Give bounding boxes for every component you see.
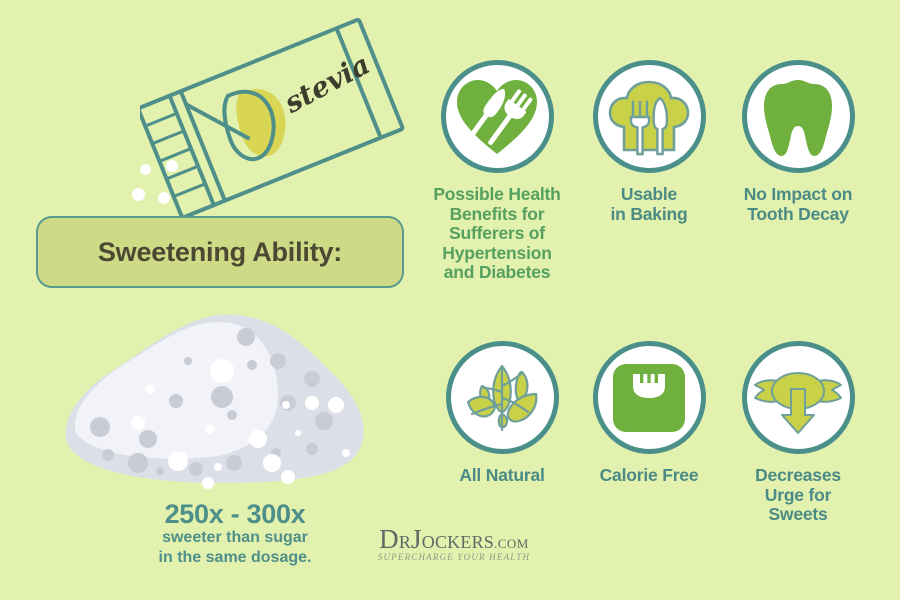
sweetening-ability-banner: Sweetening Ability: [36,216,404,288]
wrapped-candy-with-down-arrow-icon [752,359,844,437]
benefit-label: Usablein Baking [574,185,724,224]
benefit-possible-health-benefits: Possible HealthBenefits forSufferers ofH… [422,60,572,283]
benefit-no-impact-on-tooth-decay: No Impact onTooth Decay [723,60,873,224]
benefit-label: Calorie Free [574,466,724,486]
infographic-canvas: stevia Sweetening Ability: [0,0,900,600]
sweetness-multiplier: 250x - 300x [120,500,350,528]
weight-scale-icon [609,358,689,438]
benefit-calorie-free: Calorie Free [574,341,724,486]
logo-ockers: OCKERS [422,532,494,552]
sweetness-stats: 250x - 300x sweeter than sugar in the sa… [120,500,350,567]
benefit-icon-circle [593,60,706,173]
benefit-label: DecreasesUrge forSweets [723,466,873,525]
logo-d: D [379,524,399,554]
drjockers-logo[interactable]: DRJOCKERS.COM SUPERCHARGE YOUR HEALTH [358,524,550,562]
benefit-decreases-urge-for-sweets: DecreasesUrge forSweets [723,341,873,525]
benefit-icon-circle [742,341,855,454]
benefit-icon-circle [593,341,706,454]
benefit-icon-circle [446,341,559,454]
sugar-mound-icon [50,305,380,495]
logo-j: J [411,524,422,554]
benefit-label: No Impact onTooth Decay [723,185,873,224]
chef-hat-with-utensils-icon [606,74,692,160]
sweetness-note-line2: in the same dosage. [120,549,350,568]
logo-r: R [399,532,411,552]
leaves-sprig-icon [458,358,546,438]
benefit-icon-circle [742,60,855,173]
benefit-usable-in-baking: Usablein Baking [574,60,724,224]
benefit-label: All Natural [427,466,577,486]
logo-tagline: SUPERCHARGE YOUR HEALTH [358,552,550,562]
sugar-mound-illustration [50,305,380,495]
tooth-icon [758,74,838,160]
benefit-label: Possible HealthBenefits forSufferers ofH… [422,185,572,283]
sweetness-note-line1: sweeter than sugar [120,529,350,548]
benefit-icon-circle [441,60,554,173]
logo-dotcom: .COM [494,536,529,551]
banner-title: Sweetening Ability: [98,237,342,268]
heart-with-fork-and-knife-icon [451,71,543,163]
benefit-all-natural: All Natural [427,341,577,486]
logo-wordmark: DRJOCKERS.COM [358,524,550,555]
